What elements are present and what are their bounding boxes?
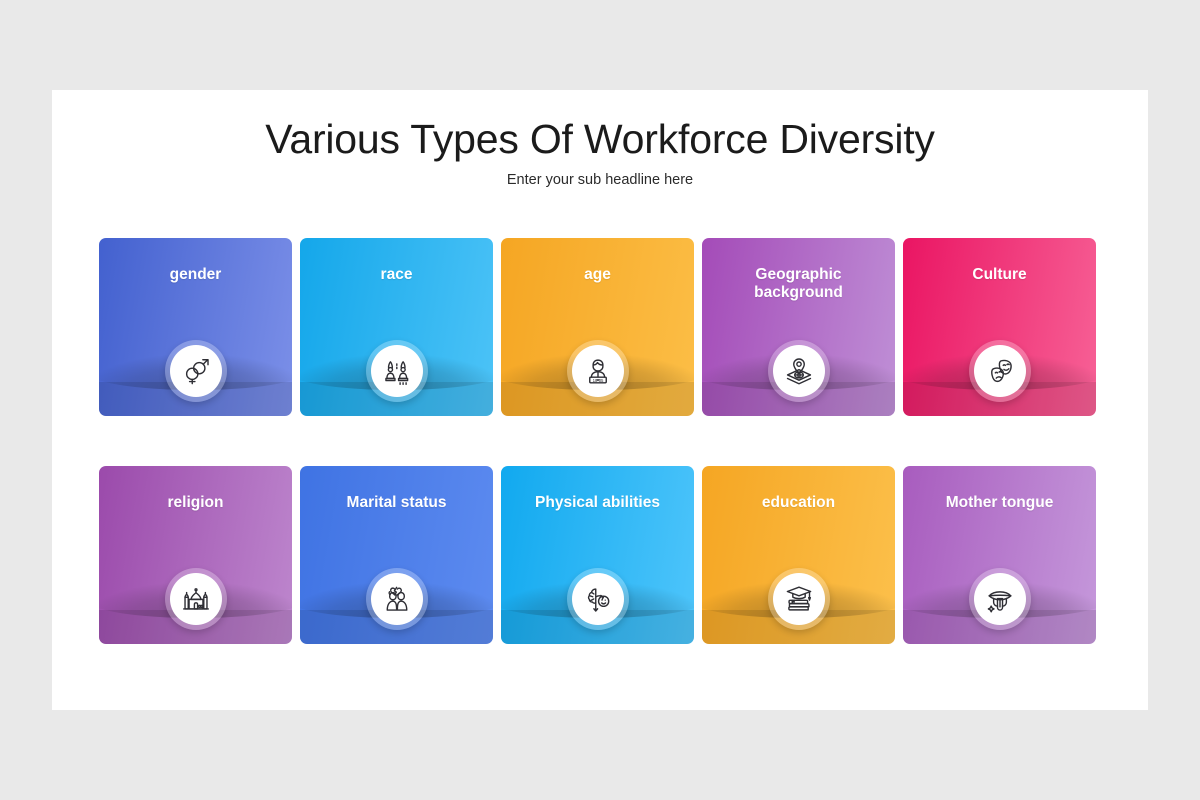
theater-masks-icon: [985, 356, 1015, 386]
card-label: age: [509, 266, 686, 284]
icon-badge[interactable]: [366, 568, 428, 630]
icon-badge[interactable]: 18 35: [567, 340, 629, 402]
badge-inner: [371, 345, 423, 397]
graduation-books-icon: [784, 584, 814, 614]
map-pin-layers-icon: [784, 356, 814, 386]
card-race[interactable]: race: [300, 238, 493, 416]
icon-badge[interactable]: [165, 568, 227, 630]
diverse-people-icon: [382, 356, 412, 386]
icon-badge[interactable]: [567, 568, 629, 630]
card-label: Geographic background: [710, 266, 887, 302]
icon-badge[interactable]: [165, 340, 227, 402]
badge-inner: [371, 573, 423, 625]
icon-badge[interactable]: [366, 340, 428, 402]
badge-inner: [773, 345, 825, 397]
card-label: Mother tongue: [911, 494, 1088, 512]
card-label: Physical abilities: [509, 494, 686, 512]
mosque-icon: [181, 584, 211, 614]
badge-inner: [974, 573, 1026, 625]
badge-inner: 18 35: [572, 345, 624, 397]
card-row-2: religion: [99, 466, 1101, 644]
card-education[interactable]: education: [702, 466, 895, 644]
card-label: gender: [107, 266, 284, 284]
badge-inner: [974, 345, 1026, 397]
card-mother-tongue[interactable]: Mother tongue: [903, 466, 1096, 644]
person-age-range-icon: 18 35: [583, 356, 613, 386]
page-subtitle: Enter your sub headline here: [52, 172, 1148, 188]
card-label: race: [308, 266, 485, 284]
card-marital-status[interactable]: Marital status: [300, 466, 493, 644]
mouth-tongue-icon: [985, 584, 1015, 614]
card-geographic-background[interactable]: Geographic background: [702, 238, 895, 416]
svg-text:18 35: 18 35: [592, 378, 603, 383]
card-physical-abilities[interactable]: Physical abilities: [501, 466, 694, 644]
couple-broken-heart-icon: [382, 584, 412, 614]
card-age[interactable]: age 18 35: [501, 238, 694, 416]
icon-badge[interactable]: [768, 568, 830, 630]
card-gender[interactable]: gender: [99, 238, 292, 416]
card-culture[interactable]: Culture: [903, 238, 1096, 416]
card-label: education: [710, 494, 887, 512]
card-label: Culture: [911, 266, 1088, 284]
card-row-1: gender: [99, 238, 1101, 416]
icon-badge[interactable]: [768, 340, 830, 402]
badge-inner: [170, 573, 222, 625]
badge-inner: [170, 345, 222, 397]
gender-symbols-icon: [181, 356, 211, 386]
card-label: Marital status: [308, 494, 485, 512]
page-title: Various Types Of Workforce Diversity: [52, 116, 1148, 163]
badge-inner: [773, 573, 825, 625]
badge-inner: [572, 573, 624, 625]
icon-badge[interactable]: [969, 340, 1031, 402]
card-religion[interactable]: religion: [99, 466, 292, 644]
brain-body-ability-icon: [583, 584, 613, 614]
icon-badge[interactable]: [969, 568, 1031, 630]
slide-canvas: Various Types Of Workforce Diversity Ent…: [52, 90, 1148, 710]
diversity-card-grid: gender: [99, 238, 1101, 644]
card-label: religion: [107, 494, 284, 512]
